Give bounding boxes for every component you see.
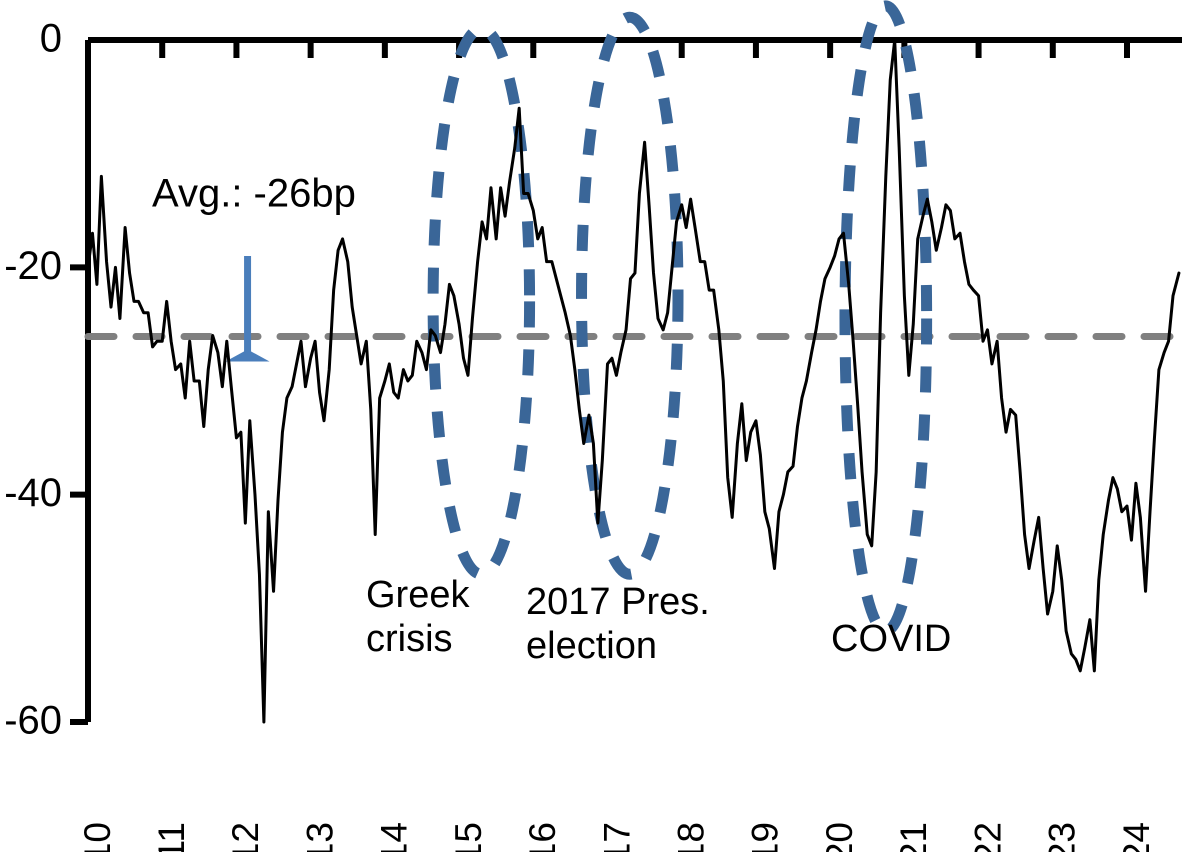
average-annotation-label: Avg.: -26bp xyxy=(152,172,356,216)
covid-label: COVID xyxy=(831,618,951,660)
election-label-line2: election xyxy=(526,625,657,667)
x-axis-tick-label-2021: 2021 xyxy=(893,822,934,852)
greek-crisis-label-line2: crisis xyxy=(366,618,453,660)
x-axis-tick-label-2014: 2014 xyxy=(374,822,415,852)
line-chart-svg: 0-20-40-60 20102011201220132014201520162… xyxy=(0,0,1200,852)
x-axis-tick-labels: 2010201120122013201420152016201720182019… xyxy=(77,822,1157,852)
y-axis-tick-label--20: -20 xyxy=(4,244,62,288)
x-axis-tick-label-2022: 2022 xyxy=(967,822,1008,852)
y-axis-tick-label--60: -60 xyxy=(4,699,62,743)
greek-crisis-label-line1: Greek xyxy=(366,574,470,616)
x-axis-tick-label-2018: 2018 xyxy=(670,822,711,852)
chart-background xyxy=(0,0,1200,852)
election-label-line1: 2017 Pres. xyxy=(526,581,710,623)
x-axis-tick-label-2012: 2012 xyxy=(225,822,266,852)
y-axis-tick-label-0: 0 xyxy=(40,17,62,61)
x-axis-tick-label-2015: 2015 xyxy=(448,822,489,852)
x-axis-tick-label-2013: 2013 xyxy=(299,822,340,852)
x-axis-tick-label-2019: 2019 xyxy=(745,822,786,852)
x-axis-tick-label-2016: 2016 xyxy=(522,822,563,852)
x-axis-tick-label-2024: 2024 xyxy=(1116,822,1157,852)
chart-container: 0-20-40-60 20102011201220132014201520162… xyxy=(0,0,1200,852)
x-axis-tick-label-2017: 2017 xyxy=(596,822,637,852)
x-axis-tick-label-2020: 2020 xyxy=(819,822,860,852)
x-axis-tick-label-2010: 2010 xyxy=(77,822,118,852)
y-axis-tick-label--40: -40 xyxy=(4,471,62,515)
x-axis-tick-label-2011: 2011 xyxy=(151,822,192,852)
x-axis-tick-label-2023: 2023 xyxy=(1042,822,1083,852)
